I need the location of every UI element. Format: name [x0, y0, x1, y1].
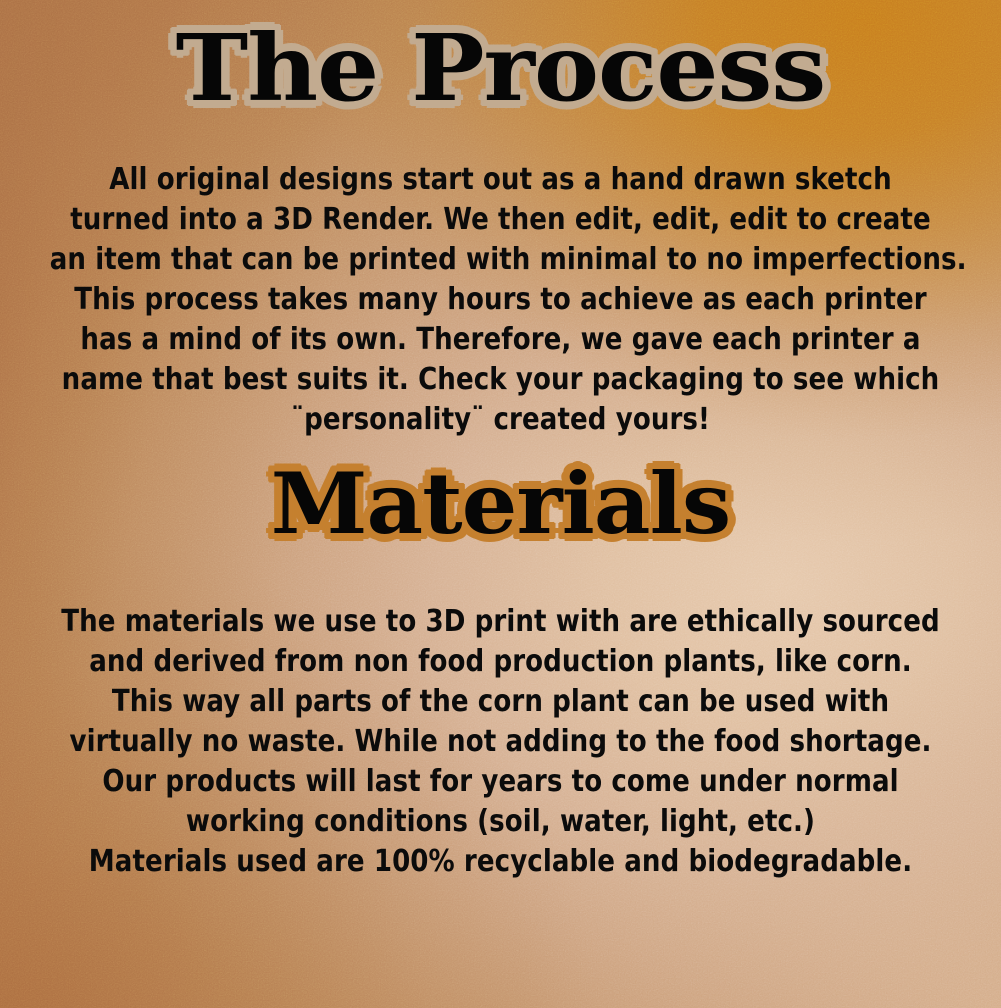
process-body: All original designs start out as a hand… [25, 160, 976, 440]
process-body-line: This process takes many hours to achieve… [50, 280, 952, 320]
materials-body-line: and derived from non food production pla… [50, 642, 952, 682]
materials-body-line: working conditions (soil, water, light, … [50, 802, 952, 842]
info-card: The Process All original designs start o… [0, 0, 1001, 1008]
process-body-line: All original designs start out as a hand… [50, 160, 952, 200]
process-body-line: turned into a 3D Render. We then edit, e… [50, 200, 952, 240]
card-content: The Process All original designs start o… [0, 0, 1001, 1008]
materials-body-line: Our products will last for years to come… [50, 762, 952, 802]
process-body-line: has a mind of its own. Therefore, we gav… [50, 320, 952, 360]
process-body-line: an item that can be printed with minimal… [50, 240, 952, 280]
process-body-line: name that best suits it. Check your pack… [50, 360, 952, 400]
materials-body: The materials we use to 3D print with ar… [25, 602, 976, 882]
materials-body-line: virtually no waste. While not adding to … [50, 722, 952, 762]
process-body-line: ¨personality¨ created yours! [50, 400, 952, 440]
materials-body-line: This way all parts of the corn plant can… [50, 682, 952, 722]
process-title: The Process [0, 22, 1001, 114]
materials-body-line: Materials used are 100% recyclable and b… [50, 842, 952, 882]
materials-body-line: The materials we use to 3D print with ar… [50, 602, 952, 642]
materials-title: Materials [0, 462, 1001, 546]
